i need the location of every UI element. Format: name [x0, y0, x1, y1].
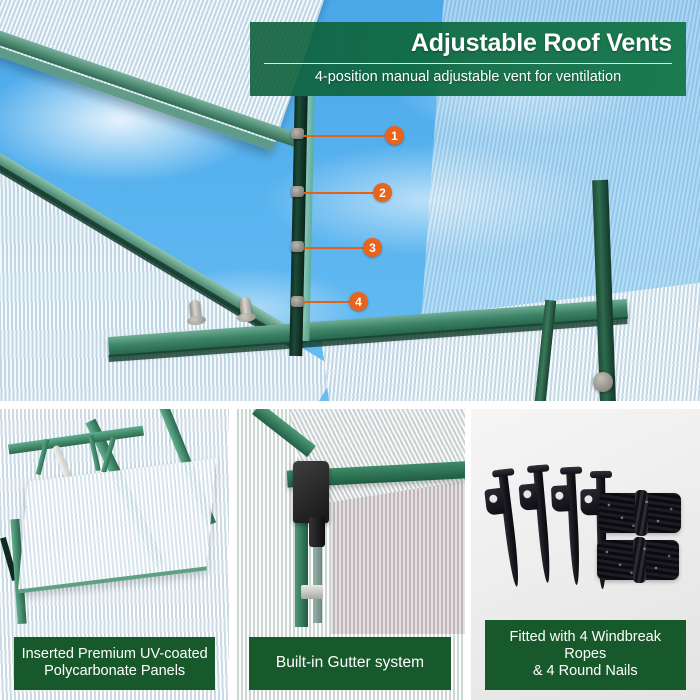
frame-bolt-right [593, 372, 613, 392]
feature-thumbnail-row: Inserted Premium UV-coated Polycarbonate… [0, 409, 700, 700]
hero-image-roof-vent-photo: Adjustable Roof Vents 4-position manual … [0, 0, 700, 401]
callout-1-leader-line [303, 135, 385, 137]
callout-4-badge: 4 [349, 292, 368, 311]
banner-divider [264, 63, 672, 64]
callout-3: 3 [303, 238, 382, 257]
feature-caption-windbreak-ropes-nails: Fitted with 4 Windbreak Ropes & 4 Round … [485, 620, 686, 690]
banner-title: Adjustable Roof Vents [264, 30, 672, 58]
beam-bolt-2 [239, 296, 252, 319]
callout-4-leader-line [303, 301, 349, 303]
feature-card-polycarbonate-panels: Inserted Premium UV-coated Polycarbonate… [0, 409, 229, 700]
windbreak-rope-1 [599, 493, 681, 533]
feature-card-gutter-system: Built-in Gutter system [235, 409, 464, 700]
feature-banner: Adjustable Roof Vents 4-position manual … [250, 22, 686, 96]
callout-1: 1 [303, 126, 404, 145]
callout-4: 4 [303, 292, 368, 311]
callout-3-badge: 3 [363, 238, 382, 257]
beam-bolt-1 [189, 299, 202, 322]
feature-card-windbreak-ropes-nails: Fitted with 4 Windbreak Ropes & 4 Round … [471, 409, 700, 700]
callout-2-leader-line [303, 192, 373, 194]
callout-3-leader-line [303, 247, 363, 249]
feature-caption-gutter-system: Built-in Gutter system [249, 637, 450, 690]
callout-2-badge: 2 [373, 183, 392, 202]
callout-2: 2 [303, 183, 392, 202]
feature-caption-polycarbonate-panels: Inserted Premium UV-coated Polycarbonate… [14, 637, 215, 690]
callout-1-badge: 1 [385, 126, 404, 145]
infographic-page: Adjustable Roof Vents 4-position manual … [0, 0, 700, 700]
banner-subtitle: 4-position manual adjustable vent for ve… [264, 69, 672, 86]
windbreak-rope-2 [597, 540, 679, 580]
